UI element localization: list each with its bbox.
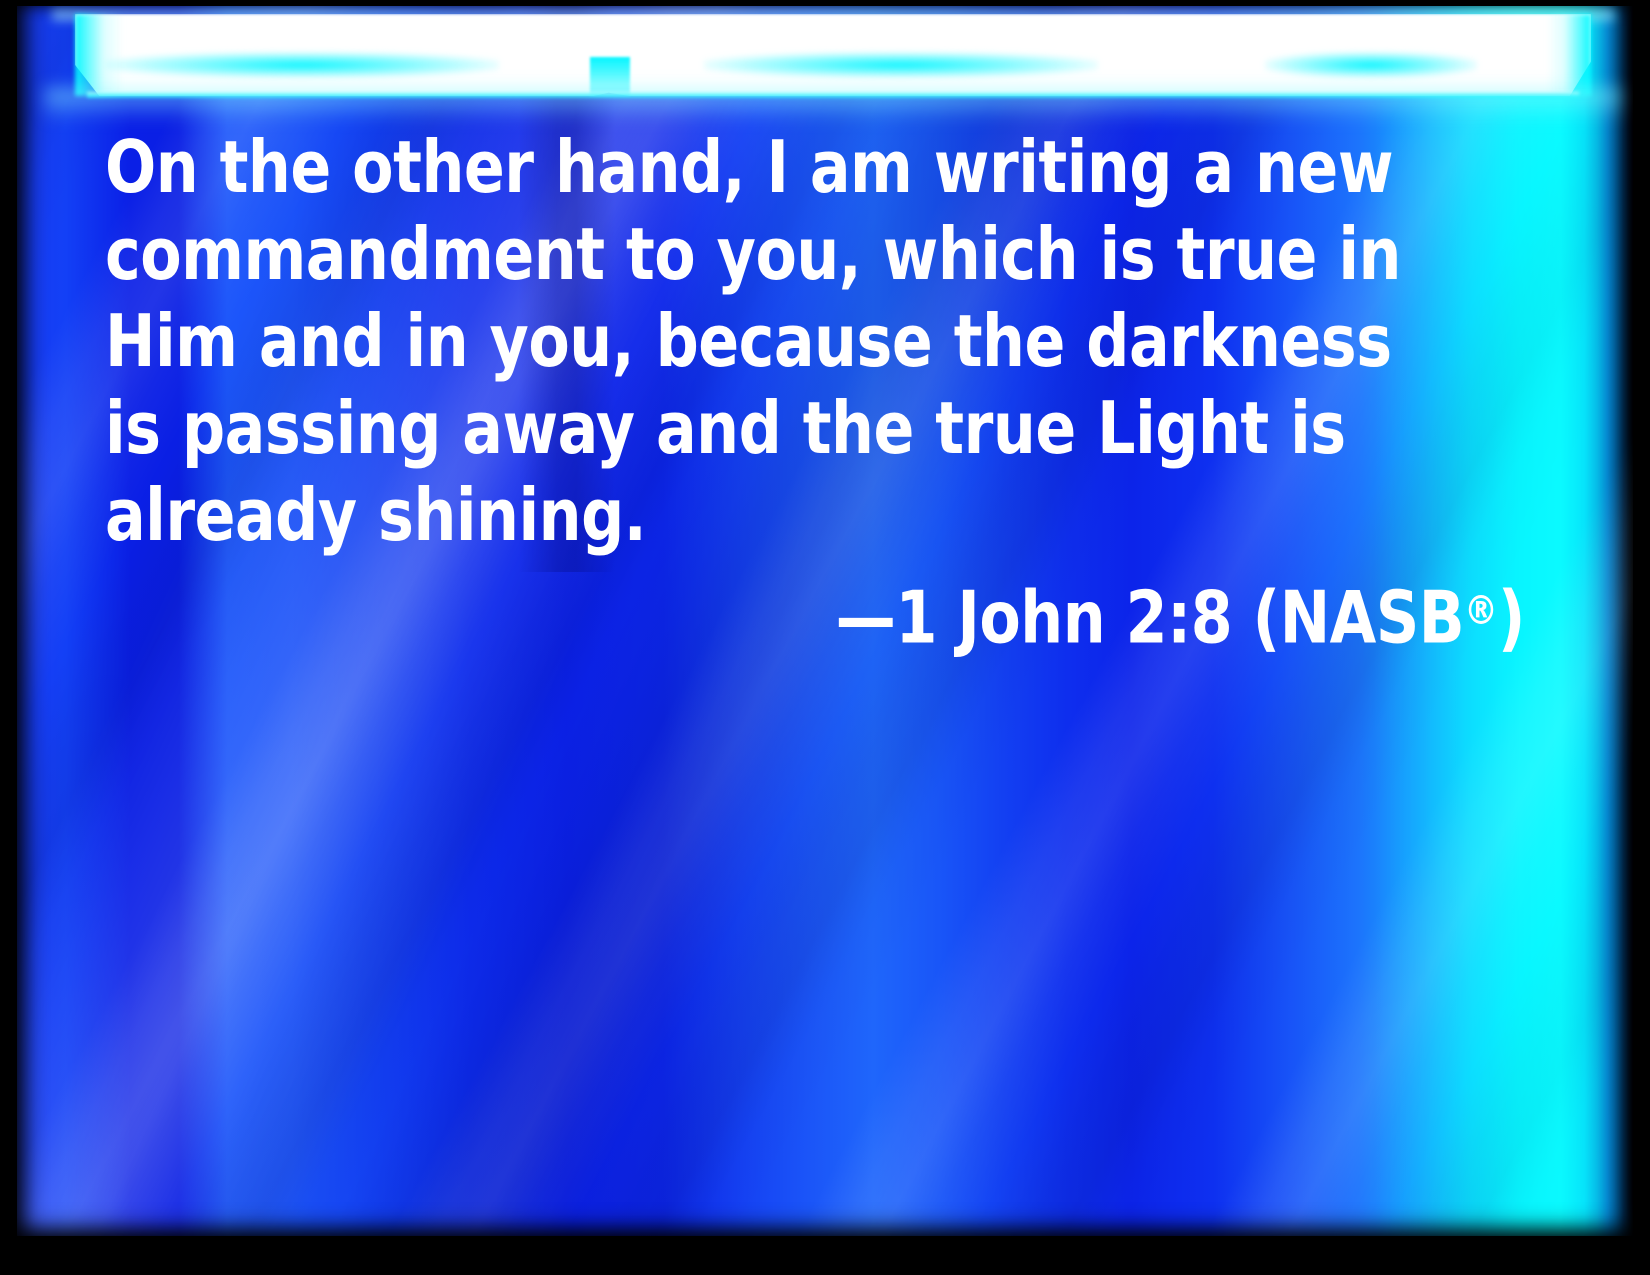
verse-block: On the other hand, I am writing a new co… (105, 124, 1525, 662)
attribution-dash: — (836, 576, 896, 660)
attribution-translation-close: ) (1498, 576, 1525, 660)
verse-text: On the other hand, I am writing a new co… (105, 124, 1426, 559)
attribution-reference: 1 John 2:8 (895, 576, 1232, 660)
verse-attribution: —1 John 2:8 (NASB®) (204, 559, 1525, 662)
slide-frame: On the other hand, I am writing a new co… (0, 0, 1650, 1275)
artwork-panel: On the other hand, I am writing a new co… (17, 6, 1633, 1236)
attribution-translation-open: (NASB (1232, 576, 1464, 660)
registered-trademark-icon: ® (1464, 587, 1498, 634)
